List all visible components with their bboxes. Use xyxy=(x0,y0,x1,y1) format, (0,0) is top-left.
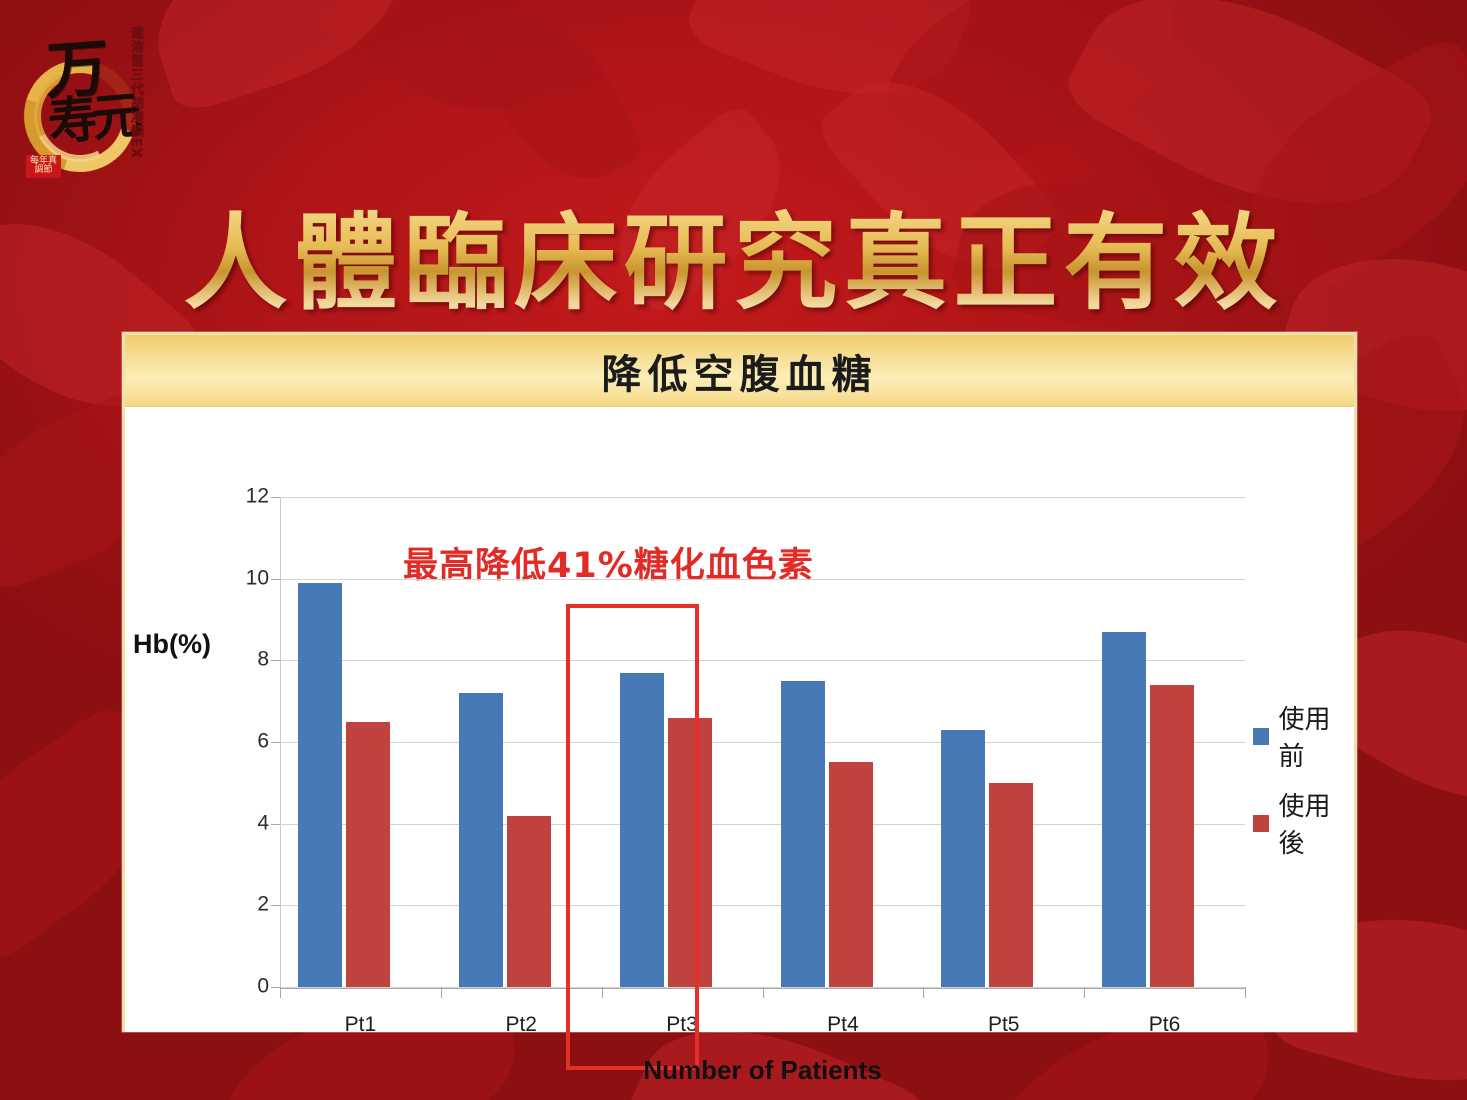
legend-swatch-post-icon xyxy=(1253,815,1269,832)
bar-pt6-pre[interactable] xyxy=(1102,632,1146,987)
bar-pt5-pre[interactable] xyxy=(941,730,985,987)
slide-canvas: 万 寿元 速溶第三代胡凑鱗EX 每年真調節 人體臨床研究真正有效 降低空腹血糖 … xyxy=(0,0,1467,1100)
y-axis-tick-label: 10 xyxy=(246,566,269,590)
y-axis-tick-label: 0 xyxy=(257,975,269,999)
x-axis-title: Number of Patients xyxy=(280,1055,1245,1086)
y-axis-tick-label: 2 xyxy=(257,893,269,917)
x-axis-tick-label: Pt6 xyxy=(1084,1013,1245,1037)
bar-pt3-post[interactable] xyxy=(668,718,712,988)
bar-pt6-post[interactable] xyxy=(1150,685,1194,987)
legend-item[interactable]: 使用後 xyxy=(1253,786,1354,860)
y-axis-tick-label: 8 xyxy=(257,648,269,672)
y-axis-tick-mark xyxy=(271,987,280,988)
bar-pt4-pre[interactable] xyxy=(781,681,825,987)
x-axis-tick-label: Pt4 xyxy=(763,1013,924,1037)
x-axis-tick-mark xyxy=(1245,987,1246,998)
chart-plot-area: Hb(%) 最高降低41%糖化血色素 024681012Pt1Pt2Pt3Pt4… xyxy=(125,407,1354,1032)
bar-pt2-post[interactable] xyxy=(507,816,551,988)
bar-group: Pt3 xyxy=(602,497,763,987)
x-axis-tick-label: Pt3 xyxy=(602,1013,763,1037)
x-axis-tick-mark xyxy=(1084,987,1085,998)
y-axis-tick-mark xyxy=(271,579,280,580)
bar-group: Pt2 xyxy=(441,497,602,987)
y-axis-tick-label: 6 xyxy=(257,730,269,754)
x-axis-tick-mark xyxy=(923,987,924,998)
bar-group: Pt1 xyxy=(280,497,441,987)
x-axis-tick-label: Pt2 xyxy=(441,1013,602,1037)
bar-pt3-pre[interactable] xyxy=(620,673,664,987)
chart-panel-header: 降低空腹血糖 xyxy=(125,335,1354,407)
bar-pt1-pre[interactable] xyxy=(298,583,342,987)
chart-panel: 降低空腹血糖 Hb(%) 最高降低41%糖化血色素 024681012Pt1Pt… xyxy=(122,332,1357,1032)
bar-group: Pt6 xyxy=(1084,497,1245,987)
x-axis-tick-mark xyxy=(602,987,603,998)
y-axis-tick-label: 12 xyxy=(246,485,269,509)
legend-item[interactable]: 使用前 xyxy=(1253,699,1354,773)
bar-pt4-post[interactable] xyxy=(829,762,873,987)
bar-pt2-pre[interactable] xyxy=(459,693,503,987)
x-axis-tick-mark xyxy=(441,987,442,998)
x-axis-tick-mark xyxy=(280,987,281,998)
chart-gridlines-and-bars: 024681012Pt1Pt2Pt3Pt4Pt5Pt6 xyxy=(280,497,1245,987)
y-axis-tick-mark xyxy=(271,824,280,825)
page-title: 人體臨床研究真正有效 xyxy=(0,178,1467,329)
bar-pt1-post[interactable] xyxy=(346,722,390,987)
bar-pt5-post[interactable] xyxy=(989,783,1033,987)
y-axis-tick-mark xyxy=(271,742,280,743)
x-axis-tick-label: Pt5 xyxy=(923,1013,1084,1037)
y-axis-tick-mark xyxy=(271,905,280,906)
y-axis-tick-mark xyxy=(271,660,280,661)
x-axis-tick-label: Pt1 xyxy=(280,1013,441,1037)
chart-panel-header-title: 降低空腹血糖 xyxy=(602,342,878,400)
y-axis-tick-label: 4 xyxy=(257,811,269,835)
y-axis-tick-mark xyxy=(271,497,280,498)
legend-label: 使用前 xyxy=(1278,699,1354,773)
brand-seal-badge: 每年真調節 xyxy=(26,155,61,178)
legend-swatch-pre-icon xyxy=(1253,728,1269,745)
chart-legend: 使用前 使用後 xyxy=(1253,699,1354,873)
y-axis-label: Hb(%) xyxy=(133,629,211,660)
legend-label: 使用後 xyxy=(1278,786,1354,860)
x-axis-tick-mark xyxy=(763,987,764,998)
bar-group: Pt5 xyxy=(923,497,1084,987)
brand-vertical-tagline: 速溶第三代胡凑鱗EX xyxy=(120,26,142,159)
bar-group: Pt4 xyxy=(763,497,924,987)
brand-logo: 万 寿元 速溶第三代胡凑鱗EX 每年真調節 xyxy=(8,12,158,187)
